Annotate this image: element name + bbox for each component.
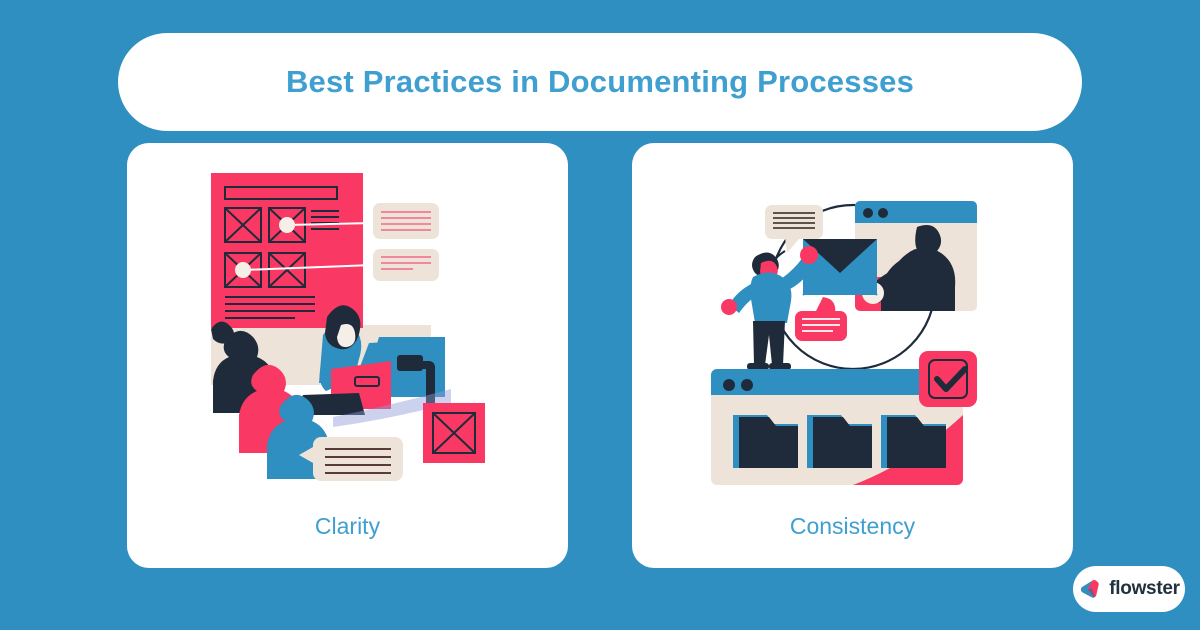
page-title: Best Practices in Documenting Processes bbox=[286, 64, 914, 100]
card-label-consistency: Consistency bbox=[632, 513, 1073, 540]
flowster-wordmark: flowster bbox=[1109, 578, 1179, 600]
card-clarity[interactable]: Clarity bbox=[127, 143, 568, 568]
card-label-clarity: Clarity bbox=[127, 513, 568, 540]
annotation-card-2 bbox=[373, 249, 439, 281]
envelope-icon bbox=[803, 239, 877, 295]
check-badge bbox=[919, 351, 977, 407]
title-pill: Best Practices in Documenting Processes bbox=[118, 33, 1082, 131]
flowster-triangle-logo-icon bbox=[1078, 577, 1102, 601]
flowster-logo-badge[interactable]: flowster bbox=[1073, 566, 1185, 612]
card-consistency[interactable]: Consistency bbox=[632, 143, 1073, 568]
speech-bubble-pink bbox=[795, 297, 847, 341]
annotation-card-1 bbox=[373, 203, 439, 239]
wireframe-tile bbox=[423, 403, 485, 463]
consistency-illustration bbox=[632, 165, 1073, 515]
clarity-illustration bbox=[127, 165, 568, 515]
note-card bbox=[299, 437, 403, 481]
